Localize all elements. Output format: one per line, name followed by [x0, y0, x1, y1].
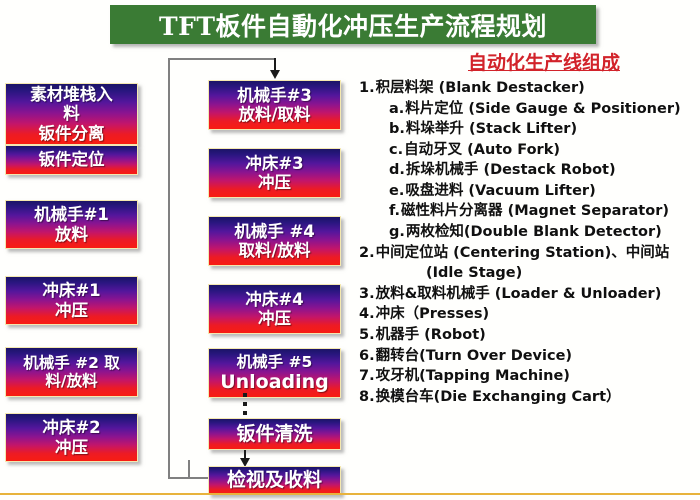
box-line: Unloading	[220, 371, 329, 393]
connector-left-vertical	[168, 58, 170, 479]
list-item-label: 机器手 (Robot)	[376, 325, 486, 346]
list-marker: 4.	[359, 304, 375, 325]
list-item-label: 磁性料片分离器 (Magnet Separator)	[401, 201, 669, 222]
list-item-label: 翻转台(Turn Over Device)	[376, 346, 572, 367]
list-marker: f.	[389, 201, 400, 222]
flowchart-canvas: TFT板件自動化冲压生产流程规划 素材堆栈入 料 钣件分离 钣件定位 机械手#1…	[0, 0, 700, 500]
list-item: 7. 攻牙机(Tapping Machine)	[358, 366, 700, 387]
list-item-label: (Idle Stage)	[426, 263, 522, 284]
list-marker: 2.	[359, 243, 375, 264]
list-marker: a.	[389, 99, 404, 120]
box-line: 料/放料	[45, 372, 97, 390]
box-line: 素材堆栈入	[30, 85, 113, 104]
box-line: 取料/放料	[238, 241, 310, 260]
dotted-connector-dot	[243, 402, 247, 406]
list-item: a. 料片定位 (Side Gauge & Positioner)	[358, 99, 700, 120]
list-item-label: 自动牙叉 (Auto Fork)	[404, 140, 560, 161]
list-marker: 3.	[359, 284, 375, 305]
process-box-robot-3[interactable]: 机械手#3 放料/取料	[208, 80, 341, 130]
list-marker: 5.	[359, 325, 375, 346]
list-item-label: 换模台车(Die Exchanging Cart）	[376, 387, 621, 408]
list-item: 5. 机器手 (Robot)	[358, 325, 700, 346]
list-marker: d.	[389, 160, 405, 181]
process-box-robot-1[interactable]: 机械手#1 放料	[5, 200, 138, 249]
list-item: d. 拆垛机械手 (Destack Robot)	[358, 160, 700, 181]
process-box-sheet-cleaning[interactable]: 钣件清洗	[208, 418, 341, 450]
box-line: 机械手 #5	[237, 353, 313, 371]
box-line: 机械手 #4	[234, 222, 315, 241]
list-item-label: 两枚检知(Double Blank Detector)	[406, 222, 662, 243]
list-item-label: 料垛举升 (Stack Lifter)	[406, 119, 577, 140]
list-item-label: 放料&取料机械手 (Loader & Unloader)	[376, 284, 662, 305]
box-line: 冲床#3	[245, 154, 303, 173]
list-item-continuation: (Idle Stage)	[358, 263, 700, 284]
box-line: 冲压	[258, 309, 291, 328]
box-line: 放料/取料	[238, 105, 310, 124]
list-marker: c.	[389, 140, 403, 161]
page-title-banner: TFT板件自動化冲压生产流程规划	[110, 5, 596, 44]
process-box-press-3[interactable]: 冲床#3 冲压	[208, 148, 341, 198]
list-marker: g.	[389, 222, 405, 243]
list-item: 8. 换模台车(Die Exchanging Cart）	[358, 387, 700, 408]
dotted-connector-dot	[243, 411, 247, 415]
list-item-label: 料片定位 (Side Gauge & Positioner)	[405, 99, 680, 120]
list-item-label: 吸盘进料 (Vacuum Lifter)	[405, 181, 595, 202]
process-box-press-2[interactable]: 冲床#2 冲压	[5, 413, 138, 462]
list-item-label: 拆垛机械手 (Destack Robot)	[406, 160, 616, 181]
list-item-label: 攻牙机(Tapping Machine)	[376, 366, 570, 387]
process-box-robot-2[interactable]: 机械手 #2 取 料/放料	[5, 347, 138, 397]
box-line: 冲压	[55, 301, 88, 320]
box-line: 放料	[55, 225, 88, 244]
process-box-press-1[interactable]: 冲床#1 冲压	[5, 276, 138, 325]
list-marker: 1.	[359, 78, 375, 99]
list-item: 4. 冲床（Presses)	[358, 304, 700, 325]
list-item: c. 自动牙叉 (Auto Fork)	[358, 140, 700, 161]
list-item-label: 中间定位站 (Centering Station)、中间站	[376, 243, 670, 264]
list-item: f. 磁性料片分离器 (Magnet Separator)	[358, 201, 700, 222]
list-item-label: 冲床（Presses)	[376, 304, 489, 325]
bottom-divider	[0, 493, 700, 495]
box-line: 冲床#1	[42, 281, 100, 300]
page-title: TFT板件自動化冲压生产流程规划	[159, 7, 547, 43]
list-marker: e.	[389, 181, 404, 202]
box-line: 机械手#1	[34, 205, 109, 224]
arrowhead-robot3	[270, 70, 280, 79]
process-box-robot-5-unloading[interactable]: 机械手 #5 Unloading	[208, 348, 341, 398]
list-item: 2. 中间定位站 (Centering Station)、中间站	[358, 243, 700, 264]
list-marker: 8.	[359, 387, 375, 408]
box-line: 钣件清洗	[236, 423, 312, 445]
box-line: 冲床#4	[245, 290, 303, 309]
box-line: 钣件分离	[39, 124, 105, 143]
box-line: 冲床#2	[42, 418, 100, 437]
list-marker: 7.	[359, 366, 375, 387]
process-box-robot-4[interactable]: 机械手 #4 取料/放料	[208, 216, 341, 266]
process-box-sheet-positioning[interactable]: 钣件定位	[5, 145, 138, 175]
list-item: e. 吸盘进料 (Vacuum Lifter)	[358, 181, 700, 202]
list-marker: b.	[389, 119, 405, 140]
connector-top-horizontal	[168, 58, 276, 60]
panel-heading: 自动化生产线组成	[358, 48, 700, 75]
process-box-press-4[interactable]: 冲床#4 冲压	[208, 284, 341, 334]
box-line: 钣件定位	[39, 150, 105, 169]
box-line: 机械手 #2 取	[23, 354, 120, 372]
process-box-material-stack-infeed[interactable]: 素材堆栈入 料 钣件分离	[5, 83, 138, 145]
list-item: g. 两枚检知(Double Blank Detector)	[358, 222, 700, 243]
box-line: 冲压	[258, 173, 291, 192]
automation-line-composition-panel: 自动化生产线组成 1. 积层料架 (Blank Destacker) a. 料片…	[358, 48, 700, 407]
box-line: 检视及收料	[227, 469, 322, 491]
box-line: 料	[63, 104, 80, 123]
list-item: 1. 积层料架 (Blank Destacker)	[358, 78, 700, 99]
process-box-inspection-collection[interactable]: 检视及收料	[208, 466, 341, 495]
list-item: b. 料垛举升 (Stack Lifter)	[358, 119, 700, 140]
box-line: 机械手#3	[237, 86, 312, 105]
dotted-connector-dot	[243, 393, 247, 397]
list-item-label: 积层料架 (Blank Destacker)	[376, 78, 585, 99]
box-line: 冲压	[55, 438, 88, 457]
list-marker: 6.	[359, 346, 375, 367]
list-item: 6. 翻转台(Turn Over Device)	[358, 346, 700, 367]
list-item: 3. 放料&取料机械手 (Loader & Unloader)	[358, 284, 700, 305]
